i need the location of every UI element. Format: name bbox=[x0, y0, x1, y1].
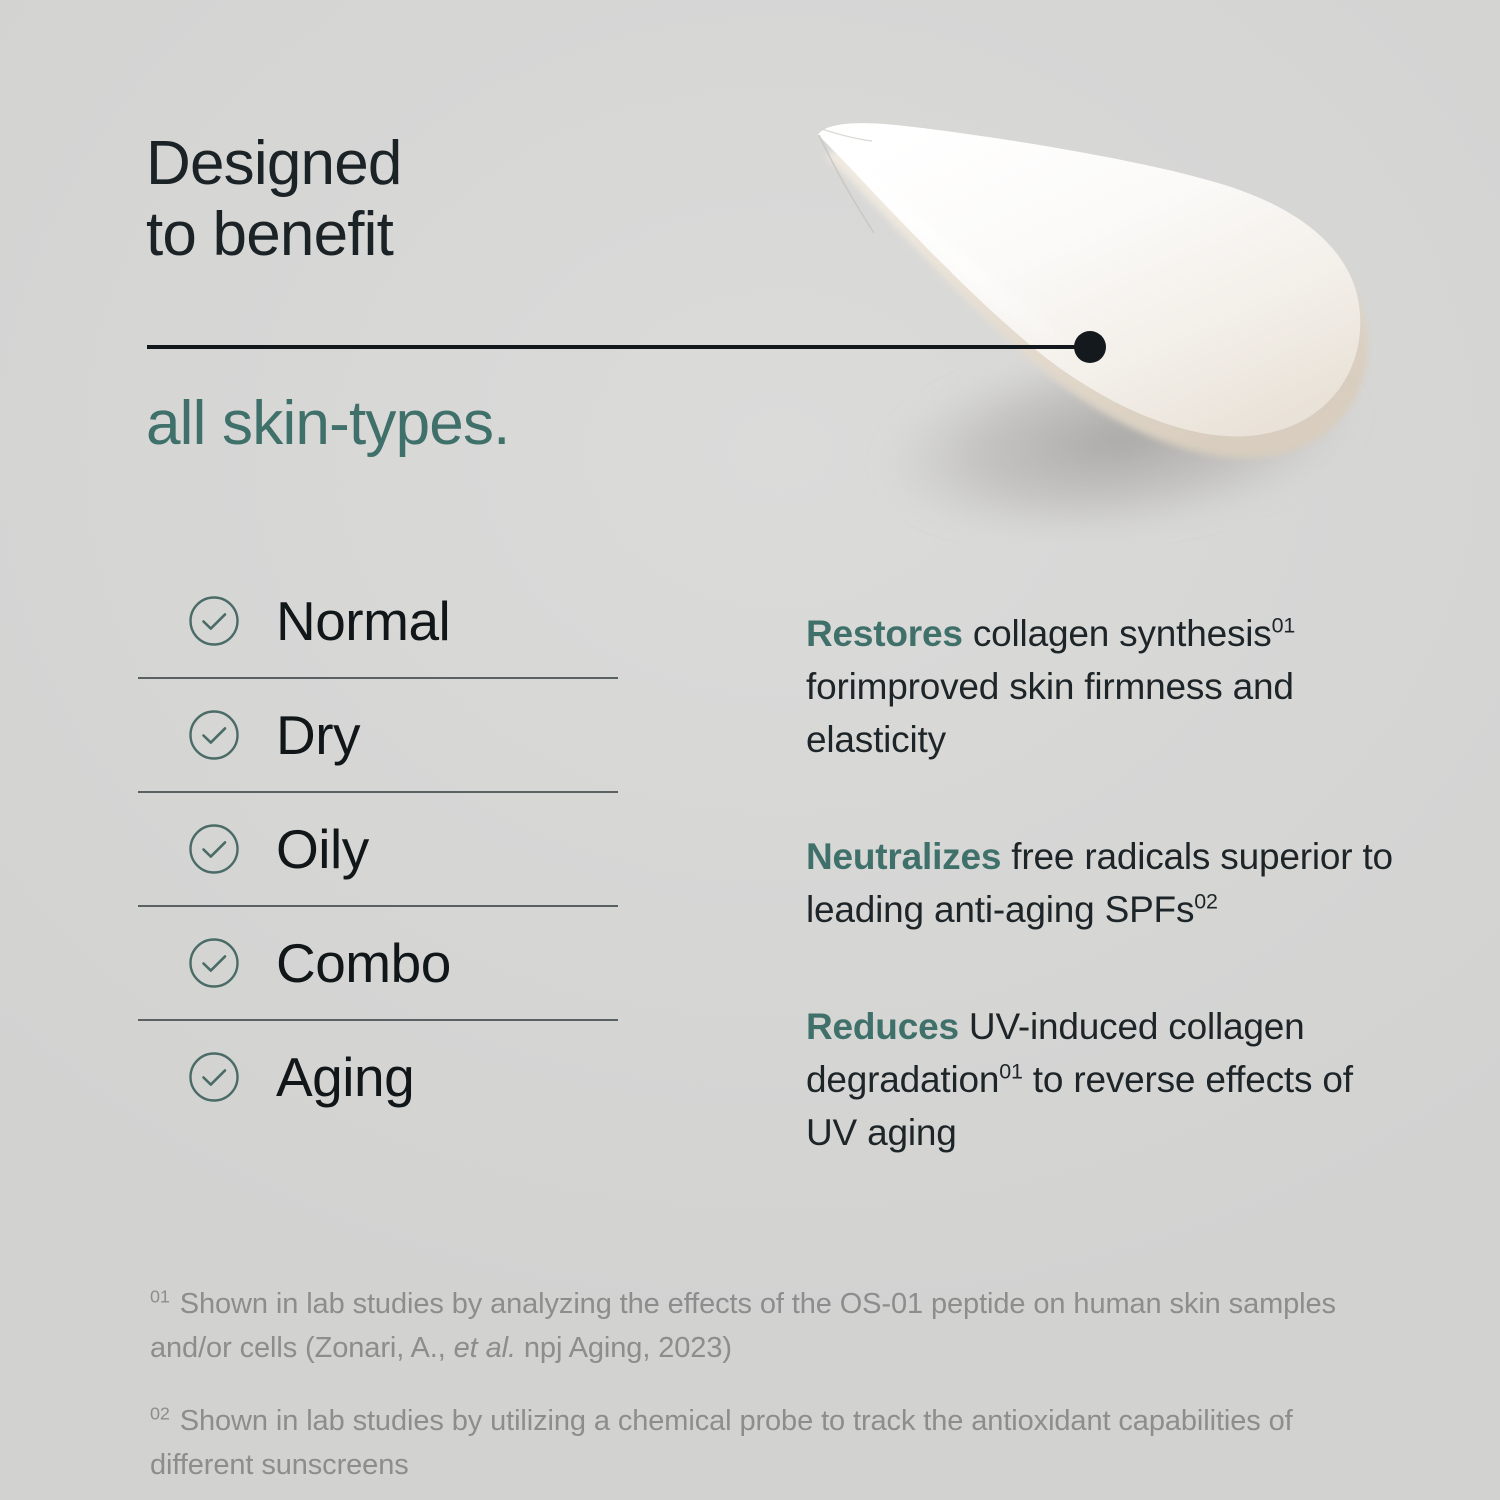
list-item: Normal bbox=[138, 565, 618, 679]
footnote-italic: et al. bbox=[454, 1332, 516, 1364]
skin-type-label: Oily bbox=[276, 820, 369, 878]
headline-accent-line: all skin-types. bbox=[146, 388, 510, 460]
skin-types-list: Normal Dry Oily bbox=[138, 565, 618, 1133]
check-circle-icon bbox=[188, 937, 240, 989]
page-title: Designed to benefit bbox=[146, 128, 906, 270]
benefit-superscript: 01 bbox=[1272, 614, 1295, 638]
list-item: Dry bbox=[138, 679, 618, 793]
headline-line-1: Designed bbox=[146, 128, 906, 199]
benefit-text: Restores collagen synthesis01 forimprove… bbox=[806, 607, 1406, 766]
benefit-text: Reduces UV-induced collagen degradation0… bbox=[806, 1000, 1406, 1159]
footnote-body-1: Shown in lab studies by utilizing a chem… bbox=[150, 1405, 1293, 1481]
benefit-body-b: forimproved skin firmness and elasticity bbox=[806, 666, 1294, 760]
cream-swatch-marker-dot bbox=[1074, 331, 1106, 363]
check-circle-icon bbox=[188, 709, 240, 761]
list-item: Combo bbox=[138, 907, 618, 1021]
check-circle-icon bbox=[188, 595, 240, 647]
list-item: Oily bbox=[138, 793, 618, 907]
footnote: 01 Shown in lab studies by analyzing the… bbox=[150, 1282, 1390, 1370]
benefit-item: Neutralizes free radicals superior to le… bbox=[806, 830, 1406, 936]
benefit-item: Reduces UV-induced collagen degradation0… bbox=[806, 1000, 1406, 1159]
benefit-item: Restores collagen synthesis01 forimprove… bbox=[806, 607, 1406, 766]
footnote-body-1: Shown in lab studies by analyzing the ef… bbox=[150, 1288, 1336, 1364]
check-circle-icon bbox=[188, 1051, 240, 1103]
infographic-canvas: Designed to benefit all skin-types. Norm… bbox=[0, 0, 1500, 1500]
list-item: Aging bbox=[138, 1021, 618, 1133]
benefit-lead-word: Restores bbox=[806, 613, 963, 654]
benefit-superscript: 01 bbox=[999, 1060, 1022, 1084]
benefit-lead-word: Reduces bbox=[806, 1006, 959, 1047]
skin-type-label: Dry bbox=[276, 706, 360, 764]
headline-divider-rule bbox=[147, 345, 1092, 349]
check-circle-icon bbox=[188, 823, 240, 875]
headline-line-2: to benefit bbox=[146, 199, 906, 270]
footnote: 02 Shown in lab studies by utilizing a c… bbox=[150, 1399, 1390, 1487]
benefit-text: Neutralizes free radicals superior to le… bbox=[806, 830, 1406, 936]
skin-type-label: Normal bbox=[276, 592, 450, 650]
skin-type-label: Aging bbox=[276, 1048, 414, 1106]
footnotes-block: 01 Shown in lab studies by analyzing the… bbox=[150, 1253, 1390, 1500]
footnote-body-2: npj Aging, 2023) bbox=[516, 1332, 732, 1364]
skin-type-label: Combo bbox=[276, 934, 451, 992]
benefit-lead-word: Neutralizes bbox=[806, 836, 1001, 877]
benefit-superscript: 02 bbox=[1194, 890, 1217, 914]
footnote-marker: 02 bbox=[150, 1403, 170, 1423]
footnote-marker: 01 bbox=[150, 1286, 170, 1306]
benefits-list: Restores collagen synthesis01 forimprove… bbox=[806, 570, 1406, 1196]
benefit-body-a: collagen synthesis bbox=[963, 613, 1272, 654]
